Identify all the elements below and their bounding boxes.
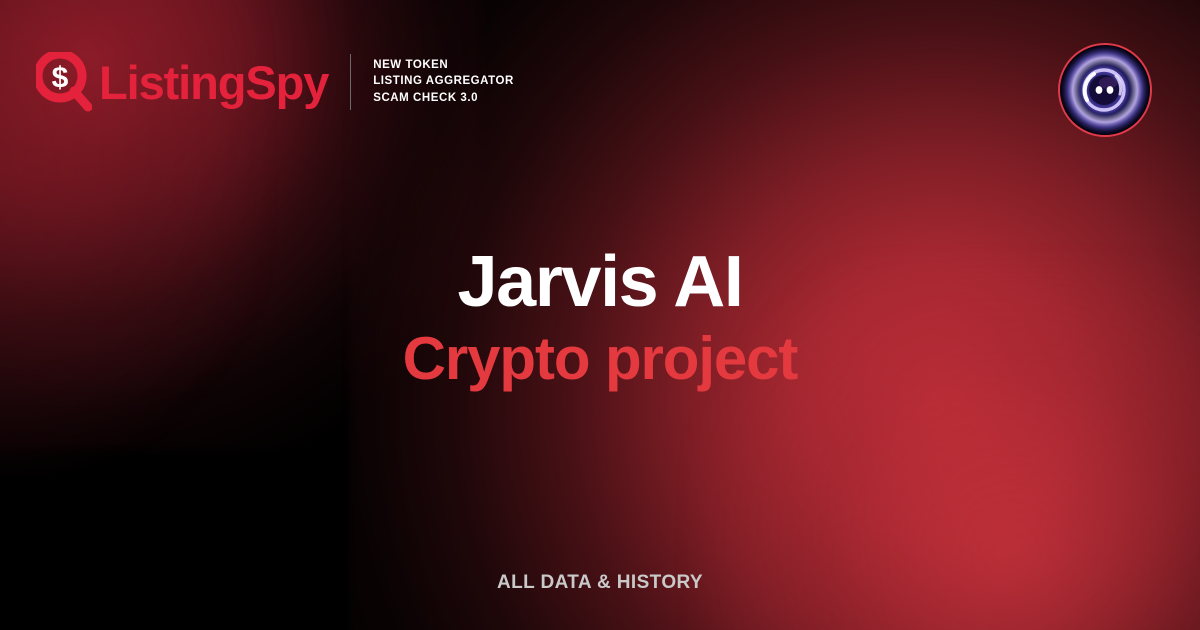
page-subtitle: Crypto project	[0, 327, 1200, 390]
tagline-line-1: NEW TOKEN	[373, 59, 514, 73]
hero-block: Jarvis AI Crypto project	[0, 246, 1200, 390]
vortex-eyes-icon	[1060, 45, 1150, 135]
brand-tagline: NEW TOKEN LISTING AGGREGATOR SCAM CHECK …	[373, 59, 514, 106]
header-divider	[350, 54, 351, 110]
tagline-line-2: LISTING AGGREGATOR	[373, 75, 514, 89]
brand-name: ListingSpy	[99, 59, 328, 106]
brand-logo[interactable]: $ ListingSpy	[36, 52, 328, 112]
magnifier-dollar-icon: $	[36, 52, 92, 112]
footer-caption: ALL DATA & HISTORY	[0, 572, 1200, 594]
tagline-line-3: SCAM CHECK 3.0	[373, 92, 514, 106]
avatar-artwork	[1060, 45, 1150, 135]
project-avatar[interactable]	[1058, 43, 1152, 137]
header: $ ListingSpy NEW TOKEN LISTING AGGREGATO…	[36, 52, 514, 112]
page-title: Jarvis AI	[0, 246, 1200, 319]
svg-text:$: $	[52, 62, 69, 95]
og-card-canvas: $ ListingSpy NEW TOKEN LISTING AGGREGATO…	[0, 0, 1200, 630]
